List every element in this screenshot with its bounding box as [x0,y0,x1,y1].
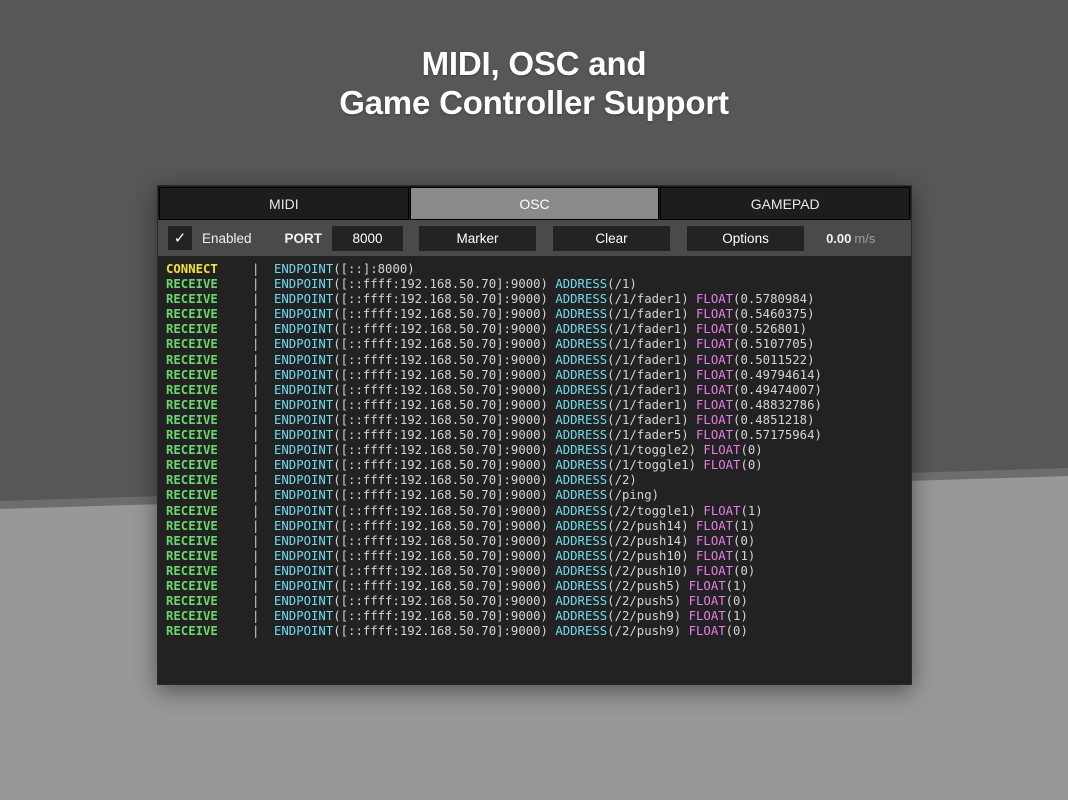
log-address-value: (/ping) [607,488,659,502]
log-separator: | [252,428,274,443]
log-line: RECEIVE|ENDPOINT([::ffff:192.168.50.70]:… [166,473,911,488]
log-address-value: (/2/push5) [607,579,681,593]
log-line: RECEIVE|ENDPOINT([::ffff:192.168.50.70]:… [166,594,911,609]
log-endpoint-keyword: ENDPOINT [274,262,333,276]
log-endpoint-value: ([::ffff:192.168.50.70]:9000) [333,428,548,442]
log-line: RECEIVE|ENDPOINT([::ffff:192.168.50.70]:… [166,368,911,383]
log-separator: | [252,443,274,458]
log-float-keyword: FLOAT [696,428,733,442]
log-address-keyword: ADDRESS [555,353,607,367]
log-line: RECEIVE|ENDPOINT([::ffff:192.168.50.70]:… [166,564,911,579]
log-address-keyword: ADDRESS [555,609,607,623]
log-line: RECEIVE|ENDPOINT([::ffff:192.168.50.70]:… [166,337,911,352]
log-endpoint-keyword: ENDPOINT [274,292,333,306]
log-separator: | [252,277,274,292]
log-separator: | [252,262,274,277]
log-separator: | [252,594,274,609]
log-address-value: (/2/push10) [607,549,688,563]
log-address-value: (/1/fader1) [607,413,688,427]
log-address-value: (/2) [607,473,637,487]
log-separator: | [252,504,274,519]
log-line: RECEIVE|ENDPOINT([::ffff:192.168.50.70]:… [166,549,911,564]
clear-button[interactable]: Clear [553,226,670,251]
rate-value: 0.00 [826,231,851,246]
log-line: RECEIVE|ENDPOINT([::ffff:192.168.50.70]:… [166,488,911,503]
log-float-value: (0.5107705) [733,337,814,351]
log-separator: | [252,564,274,579]
log-endpoint-value: ([::ffff:192.168.50.70]:9000) [333,549,548,563]
log-address-value: (/1/fader1) [607,337,688,351]
rate-unit: m/s [854,231,875,246]
log-endpoint-keyword: ENDPOINT [274,353,333,367]
log-endpoint-value: ([::ffff:192.168.50.70]:9000) [333,609,548,623]
log-address-keyword: ADDRESS [555,443,607,457]
log-level: RECEIVE [166,549,252,564]
log-endpoint-value: ([::ffff:192.168.50.70]:9000) [333,413,548,427]
log-line: RECEIVE|ENDPOINT([::ffff:192.168.50.70]:… [166,458,911,473]
log-float-keyword: FLOAT [703,458,740,472]
log-level: CONNECT [166,262,252,277]
log-endpoint-value: ([::ffff:192.168.50.70]:9000) [333,322,548,336]
log-float-value: (0) [726,594,748,608]
log-float-keyword: FLOAT [696,292,733,306]
log-separator: | [252,473,274,488]
log-address-value: (/1/fader1) [607,322,688,336]
log-address-value: (/2/push14) [607,519,688,533]
log-line: RECEIVE|ENDPOINT([::ffff:192.168.50.70]:… [166,443,911,458]
log-address-value: (/1/fader1) [607,353,688,367]
log-float-keyword: FLOAT [703,504,740,518]
log-endpoint-keyword: ENDPOINT [274,458,333,472]
log-float-keyword: FLOAT [696,519,733,533]
app-window: MIDIOSCGAMEPAD ✓ Enabled PORT 8000 Marke… [157,185,912,685]
log-address-value: (/1/fader1) [607,292,688,306]
log-address-keyword: ADDRESS [555,488,607,502]
log-separator: | [252,488,274,503]
log-address-value: (/2/push9) [607,609,681,623]
log-float-keyword: FLOAT [689,609,726,623]
log-endpoint-keyword: ENDPOINT [274,519,333,533]
log-separator: | [252,322,274,337]
log-float-keyword: FLOAT [696,413,733,427]
log-output[interactable]: CONNECT|ENDPOINT([::]:8000)RECEIVE|ENDPO… [158,256,911,684]
log-float-keyword: FLOAT [696,383,733,397]
log-float-value: (0.5011522) [733,353,814,367]
log-float-keyword: FLOAT [696,353,733,367]
log-float-value: (1) [726,609,748,623]
log-address-value: (/2/toggle1) [607,504,696,518]
log-float-value: (0) [740,443,762,457]
log-address-keyword: ADDRESS [555,398,607,412]
log-separator: | [252,337,274,352]
log-separator: | [252,519,274,534]
log-address-keyword: ADDRESS [555,504,607,518]
log-address-value: (/1/fader1) [607,398,688,412]
log-endpoint-value: ([::]:8000) [333,262,414,276]
log-address-value: (/2/push10) [607,564,688,578]
log-line: RECEIVE|ENDPOINT([::ffff:192.168.50.70]:… [166,504,911,519]
log-separator: | [252,413,274,428]
log-endpoint-keyword: ENDPOINT [274,579,333,593]
log-endpoint-value: ([::ffff:192.168.50.70]:9000) [333,368,548,382]
log-address-keyword: ADDRESS [555,594,607,608]
log-endpoint-keyword: ENDPOINT [274,337,333,351]
log-level: RECEIVE [166,413,252,428]
log-endpoint-keyword: ENDPOINT [274,488,333,502]
log-separator: | [252,292,274,307]
log-separator: | [252,534,274,549]
log-endpoint-keyword: ENDPOINT [274,428,333,442]
log-level: RECEIVE [166,534,252,549]
log-level: RECEIVE [166,322,252,337]
log-float-value: (1) [733,519,755,533]
log-level: RECEIVE [166,443,252,458]
tab-label: MIDI [269,196,299,212]
log-address-keyword: ADDRESS [555,277,607,291]
log-endpoint-value: ([::ffff:192.168.50.70]:9000) [333,624,548,638]
log-level: RECEIVE [166,458,252,473]
log-separator: | [252,398,274,413]
log-endpoint-keyword: ENDPOINT [274,549,333,563]
log-address-value: (/1/toggle1) [607,458,696,472]
log-float-keyword: FLOAT [696,368,733,382]
log-address-value: (/1/fader1) [607,368,688,382]
log-endpoint-keyword: ENDPOINT [274,383,333,397]
tab-gamepad[interactable]: GAMEPAD [660,187,910,220]
log-float-keyword: FLOAT [689,624,726,638]
log-line: RECEIVE|ENDPOINT([::ffff:192.168.50.70]:… [166,534,911,549]
log-separator: | [252,368,274,383]
log-address-value: (/1/toggle2) [607,443,696,457]
log-endpoint-keyword: ENDPOINT [274,504,333,518]
log-address-keyword: ADDRESS [555,534,607,548]
log-float-value: (0.5780984) [733,292,814,306]
page-title: MIDI, OSC and Game Controller Support [0,44,1068,122]
log-float-keyword: FLOAT [696,307,733,321]
log-level: RECEIVE [166,307,252,322]
log-level: RECEIVE [166,368,252,383]
log-address-value: (/2/push5) [607,594,681,608]
log-endpoint-keyword: ENDPOINT [274,398,333,412]
log-address-value: (/1/fader5) [607,428,688,442]
log-level: RECEIVE [166,564,252,579]
log-float-value: (1) [733,549,755,563]
log-line: RECEIVE|ENDPOINT([::ffff:192.168.50.70]:… [166,292,911,307]
log-endpoint-value: ([::ffff:192.168.50.70]:9000) [333,473,548,487]
log-float-value: (0.49794614) [733,368,822,382]
log-line: RECEIVE|ENDPOINT([::ffff:192.168.50.70]:… [166,322,911,337]
log-line: RECEIVE|ENDPOINT([::ffff:192.168.50.70]:… [166,428,911,443]
log-line: RECEIVE|ENDPOINT([::ffff:192.168.50.70]:… [166,353,911,368]
log-endpoint-keyword: ENDPOINT [274,609,333,623]
log-address-value: (/2/push9) [607,624,681,638]
options-button[interactable]: Options [687,226,804,251]
log-address-keyword: ADDRESS [555,624,607,638]
log-endpoint-value: ([::ffff:192.168.50.70]:9000) [333,504,548,518]
log-endpoint-value: ([::ffff:192.168.50.70]:9000) [333,534,548,548]
log-float-value: (0.4851218) [733,413,814,427]
log-separator: | [252,549,274,564]
log-float-value: (0) [726,624,748,638]
checkmark-icon: ✓ [174,231,187,246]
log-float-keyword: FLOAT [689,579,726,593]
log-endpoint-value: ([::ffff:192.168.50.70]:9000) [333,443,548,457]
log-float-value: (0) [733,564,755,578]
log-endpoint-value: ([::ffff:192.168.50.70]:9000) [333,594,548,608]
log-line: RECEIVE|ENDPOINT([::ffff:192.168.50.70]:… [166,609,911,624]
log-separator: | [252,609,274,624]
log-address-keyword: ADDRESS [555,307,607,321]
log-line: RECEIVE|ENDPOINT([::ffff:192.168.50.70]:… [166,398,911,413]
log-float-value: (0.57175964) [733,428,822,442]
log-float-keyword: FLOAT [696,534,733,548]
log-endpoint-keyword: ENDPOINT [274,534,333,548]
log-float-keyword: FLOAT [696,322,733,336]
log-level: RECEIVE [166,579,252,594]
log-endpoint-value: ([::ffff:192.168.50.70]:9000) [333,488,548,502]
log-float-keyword: FLOAT [689,594,726,608]
page-title-line-2: Game Controller Support [0,83,1068,122]
log-endpoint-keyword: ENDPOINT [274,443,333,457]
log-endpoint-value: ([::ffff:192.168.50.70]:9000) [333,564,548,578]
log-level: RECEIVE [166,609,252,624]
log-float-value: (0.526801) [733,322,807,336]
log-level: RECEIVE [166,292,252,307]
log-address-value: (/2/push14) [607,534,688,548]
log-float-value: (0.49474007) [733,383,822,397]
tab-label: OSC [519,196,549,212]
log-endpoint-value: ([::ffff:192.168.50.70]:9000) [333,458,548,472]
log-float-value: (1) [726,579,748,593]
log-endpoint-value: ([::ffff:192.168.50.70]:9000) [333,579,548,593]
log-endpoint-value: ([::ffff:192.168.50.70]:9000) [333,519,548,533]
log-address-keyword: ADDRESS [555,383,607,397]
enabled-label: Enabled [202,231,252,246]
log-level: RECEIVE [166,519,252,534]
log-line: RECEIVE|ENDPOINT([::ffff:192.168.50.70]:… [166,579,911,594]
log-endpoint-value: ([::ffff:192.168.50.70]:9000) [333,292,548,306]
log-float-keyword: FLOAT [703,443,740,457]
log-level: RECEIVE [166,473,252,488]
log-line: CONNECT|ENDPOINT([::]:8000) [166,262,911,277]
page-title-line-1: MIDI, OSC and [0,44,1068,83]
log-address-keyword: ADDRESS [555,458,607,472]
log-level: RECEIVE [166,337,252,352]
log-level: RECEIVE [166,398,252,413]
log-separator: | [252,307,274,322]
log-address-value: (/1) [607,277,637,291]
log-address-keyword: ADDRESS [555,292,607,306]
log-separator: | [252,624,274,639]
log-separator: | [252,353,274,368]
log-endpoint-value: ([::ffff:192.168.50.70]:9000) [333,277,548,291]
log-level: RECEIVE [166,428,252,443]
log-float-value: (0) [733,534,755,548]
log-endpoint-value: ([::ffff:192.168.50.70]:9000) [333,398,548,412]
log-separator: | [252,458,274,473]
port-label: PORT [285,231,323,246]
log-endpoint-keyword: ENDPOINT [274,322,333,336]
log-float-value: (0.5460375) [733,307,814,321]
log-float-value: (0) [740,458,762,472]
tab-bar: MIDIOSCGAMEPAD [158,186,911,220]
log-level: RECEIVE [166,353,252,368]
log-address-keyword: ADDRESS [555,564,607,578]
log-line: RECEIVE|ENDPOINT([::ffff:192.168.50.70]:… [166,624,911,639]
log-level: RECEIVE [166,277,252,292]
log-separator: | [252,383,274,398]
log-endpoint-keyword: ENDPOINT [274,473,333,487]
rate-status: 0.00m/s [826,231,875,246]
tab-osc[interactable]: OSC [410,187,660,220]
log-address-value: (/1/fader1) [607,383,688,397]
log-endpoint-value: ([::ffff:192.168.50.70]:9000) [333,307,548,321]
log-float-keyword: FLOAT [696,564,733,578]
log-endpoint-keyword: ENDPOINT [274,624,333,638]
log-level: RECEIVE [166,594,252,609]
log-float-keyword: FLOAT [696,337,733,351]
log-line: RECEIVE|ENDPOINT([::ffff:192.168.50.70]:… [166,413,911,428]
log-float-value: (0.48832786) [733,398,822,412]
log-address-keyword: ADDRESS [555,322,607,336]
log-endpoint-keyword: ENDPOINT [274,368,333,382]
log-level: RECEIVE [166,488,252,503]
log-endpoint-value: ([::ffff:192.168.50.70]:9000) [333,353,548,367]
log-address-keyword: ADDRESS [555,413,607,427]
log-separator: | [252,579,274,594]
log-endpoint-keyword: ENDPOINT [274,277,333,291]
enabled-checkbox[interactable]: ✓ [168,226,192,250]
log-float-keyword: FLOAT [696,398,733,412]
log-endpoint-keyword: ENDPOINT [274,307,333,321]
log-address-keyword: ADDRESS [555,368,607,382]
log-line: RECEIVE|ENDPOINT([::ffff:192.168.50.70]:… [166,277,911,292]
marker-button[interactable]: Marker [419,226,536,251]
toolbar: ✓ Enabled PORT 8000 Marker Clear Options… [158,220,911,256]
log-line: RECEIVE|ENDPOINT([::ffff:192.168.50.70]:… [166,307,911,322]
log-endpoint-keyword: ENDPOINT [274,564,333,578]
log-endpoint-keyword: ENDPOINT [274,594,333,608]
log-address-value: (/1/fader1) [607,307,688,321]
log-endpoint-value: ([::ffff:192.168.50.70]:9000) [333,383,548,397]
log-level: RECEIVE [166,504,252,519]
tab-label: GAMEPAD [751,196,820,212]
log-float-value: (1) [740,504,762,518]
tab-midi[interactable]: MIDI [159,187,409,220]
log-address-keyword: ADDRESS [555,337,607,351]
log-address-keyword: ADDRESS [555,519,607,533]
log-line: RECEIVE|ENDPOINT([::ffff:192.168.50.70]:… [166,383,911,398]
log-address-keyword: ADDRESS [555,579,607,593]
port-input[interactable]: 8000 [332,226,403,251]
log-endpoint-keyword: ENDPOINT [274,413,333,427]
log-address-keyword: ADDRESS [555,428,607,442]
log-level: RECEIVE [166,383,252,398]
log-line: RECEIVE|ENDPOINT([::ffff:192.168.50.70]:… [166,519,911,534]
log-address-keyword: ADDRESS [555,549,607,563]
log-endpoint-value: ([::ffff:192.168.50.70]:9000) [333,337,548,351]
log-address-keyword: ADDRESS [555,473,607,487]
log-level: RECEIVE [166,624,252,639]
log-float-keyword: FLOAT [696,549,733,563]
